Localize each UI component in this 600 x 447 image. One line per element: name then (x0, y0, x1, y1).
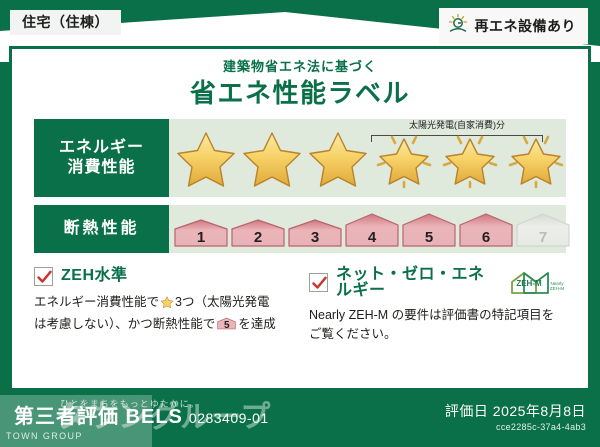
star-icon (239, 125, 305, 191)
label-card: 建築物省エネ法に基づく 省エネ性能ラベル エネルギー 消費性能 太陽光発電(自家… (9, 46, 591, 391)
energy-label-screen: 住宅（住棟） 再エネ設備あり 建築物省エネ法に基づく 省エネ性能ラベル (0, 0, 600, 447)
star-icon (305, 125, 371, 191)
zehm-logo-icon: ZEH-M Nearly ZEH-M (508, 270, 566, 296)
inline-star-icon (160, 295, 174, 315)
insulation-level-3: 3 (287, 218, 343, 248)
title-block: 建築物省エネ法に基づく 省エネ性能ラベル (12, 49, 588, 109)
zehm-description: Nearly ZEH-M の要件は評価書の特記項目をご覧ください。 (309, 306, 566, 345)
svg-text:ZEH-M: ZEH-M (550, 286, 564, 291)
zeh-standard-title: ZEH水準 (61, 268, 128, 284)
zehm-title: ネット・ゼロ・エネルギー (336, 267, 496, 299)
zehm-block: ネット・ゼロ・エネルギー ZEH-M Nearly ZEH-M Nearly Z… (301, 267, 566, 345)
title-main: 省エネ性能ラベル (12, 78, 588, 109)
inline-insulation-value: 5 (217, 321, 236, 331)
zehm-checkbox[interactable] (309, 273, 328, 292)
svg-text:ZEH-M: ZEH-M (516, 279, 542, 288)
insulation-level-6: 6 (458, 212, 514, 248)
renewable-equipment-badge: 再エネ設備あり (439, 8, 589, 44)
evaluation-date: 評価日 2025年8月8日 (445, 403, 586, 420)
zeh-standard-description: エネルギー消費性能で3つ（太陽光発電は考慮しない）、かつ断熱性能で5を達成 (34, 293, 291, 335)
insulation-level-5-value: 5 (401, 230, 457, 245)
insulation-performance-body: 1 2 3 (169, 205, 566, 253)
zeh-text-part2: は考慮しない）、かつ断熱性能で (34, 317, 215, 331)
star-icon (173, 125, 239, 191)
insulation-level-1-value: 1 (173, 230, 229, 245)
zehm-header: ネット・ゼロ・エネルギー ZEH-M Nearly ZEH-M (309, 267, 566, 299)
energy-performance-row: エネルギー 消費性能 太陽光発電(自家消費)分 (34, 119, 566, 197)
insulation-level-4: 4 (344, 212, 400, 248)
footer-bar: 第三者評価 BELS0283409-01 評価日 2025年8月8日 cce22… (0, 395, 600, 447)
energy-label-line1: エネルギー (59, 139, 144, 156)
zeh-text-part3: を達成 (238, 317, 276, 331)
zeh-checkbox[interactable] (34, 267, 53, 286)
insulation-level-4-value: 4 (344, 230, 400, 245)
star-solar-icon (371, 125, 437, 191)
insulation-level-7: 7 (515, 212, 571, 248)
star-solar-icon (503, 125, 569, 191)
star-solar-icon (437, 125, 503, 191)
bels-label: 第三者評価 BELS (14, 406, 183, 428)
zeh-standard-block: ZEH水準 エネルギー消費性能で3つ（太陽光発電は考慮しない）、かつ断熱性能で5… (34, 267, 301, 345)
insulation-level-3-value: 3 (287, 230, 343, 245)
sun-renewable-icon (447, 13, 469, 39)
insulation-level-1: 1 (173, 218, 229, 248)
insulation-level-scale: 1 2 3 (169, 205, 566, 253)
bels-code: 0283409-01 (189, 410, 269, 426)
building-type-tag: 住宅（住棟） (10, 10, 121, 35)
insulation-level-2-value: 2 (230, 230, 286, 245)
energy-label-line2: 消費性能 (67, 159, 135, 176)
zeh-text-part1: エネルギー消費性能で (34, 295, 159, 309)
energy-performance-label: エネルギー 消費性能 (34, 119, 169, 197)
insulation-level-2: 2 (230, 218, 286, 248)
energy-performance-body: 太陽光発電(自家消費)分 (169, 119, 566, 197)
evaluation-hash: cce2285c-37a4-4ab3 (445, 422, 586, 433)
bels-evaluation: 第三者評価 BELS0283409-01 (14, 407, 269, 427)
insulation-performance-label: 断熱性能 (34, 205, 169, 253)
insulation-performance-row: 断熱性能 1 (34, 205, 566, 253)
renewable-badge-label: 再エネ設備あり (475, 19, 577, 33)
zeh-text-starcount: 3つ（太陽光発電 (175, 295, 269, 309)
insulation-level-6-value: 6 (458, 230, 514, 245)
title-subtitle: 建築物省エネ法に基づく (12, 59, 588, 75)
insulation-level-7-value: 7 (515, 230, 571, 245)
insulation-level-5: 5 (401, 212, 457, 248)
certification-columns: ZEH水準 エネルギー消費性能で3つ（太陽光発電は考慮しない）、かつ断熱性能で5… (34, 267, 566, 345)
inline-insulation-badge: 5 (217, 315, 236, 332)
zeh-standard-header: ZEH水準 (34, 267, 291, 286)
evaluation-date-block: 評価日 2025年8月8日 cce2285c-37a4-4ab3 (445, 403, 586, 433)
energy-star-rating (169, 119, 566, 197)
